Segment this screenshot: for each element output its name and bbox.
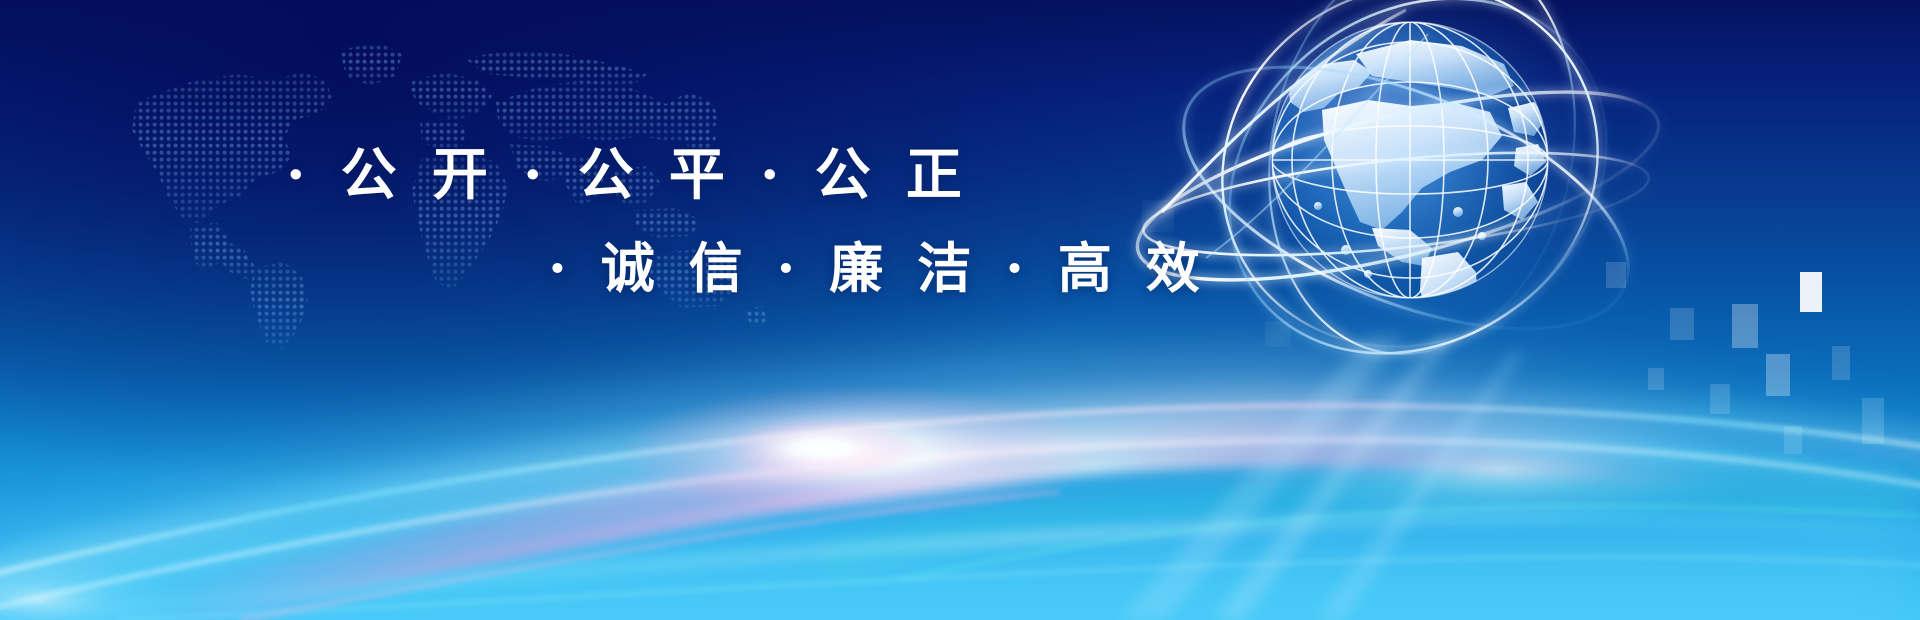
translucent-square-cluster-icon xyxy=(1380,250,1920,510)
slogan-line-1: · 公 开 · 公 平 · 公 正 xyxy=(286,144,970,206)
light-wave-graphic xyxy=(0,0,1920,620)
wireframe-globe-icon xyxy=(1110,0,1640,410)
slogan-text-block: · 公 开 · 公 平 · 公 正 · 诚 信 · 廉 洁 · 高 效 xyxy=(0,0,1100,330)
banner-root: · 公 开 · 公 平 · 公 正 · 诚 信 · 廉 洁 · 高 效 xyxy=(0,0,1920,620)
world-map-dots-icon xyxy=(40,10,780,350)
slogan-line-2: · 诚 信 · 廉 洁 · 高 效 xyxy=(548,238,1207,298)
